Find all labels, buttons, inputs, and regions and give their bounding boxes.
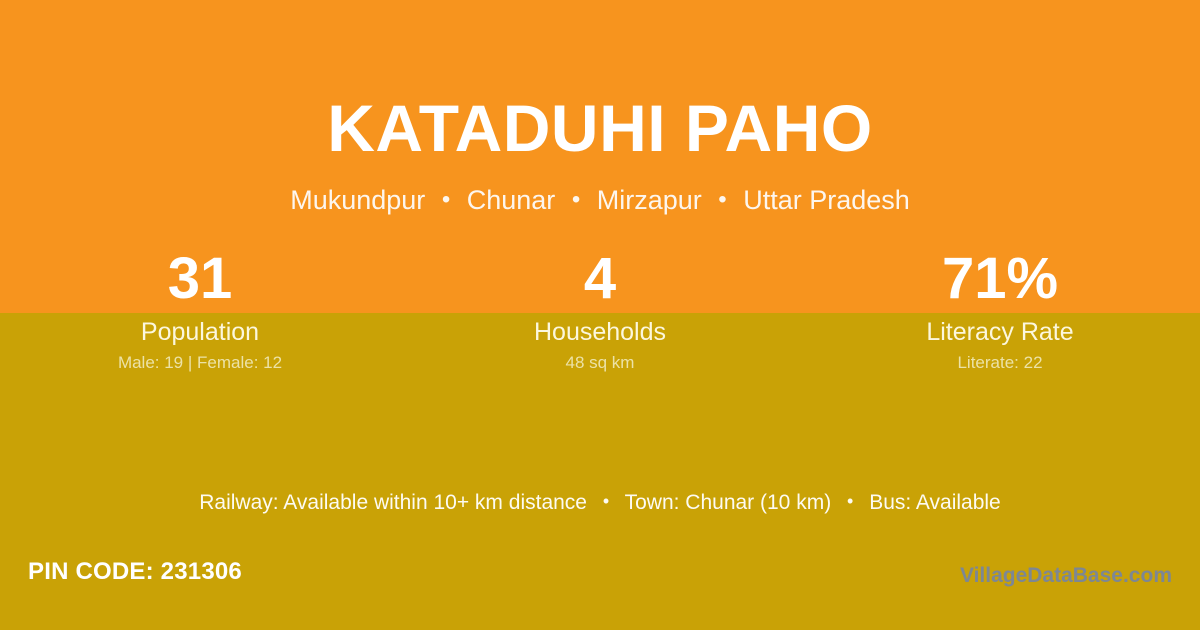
stat-label-literacy-rate: Literacy Rate — [800, 316, 1200, 348]
stat-card-households: 4 Households 48 sq km — [400, 240, 800, 390]
breadcrumb-item-district: Mirzapur — [597, 185, 702, 215]
breadcrumb: Mukundpur • Chunar • Mirzapur • Uttar Pr… — [0, 182, 1200, 218]
pin-code-label: PIN CODE: 231306 — [28, 556, 242, 588]
stat-sub-literacy-rate: Literate: 22 — [800, 352, 1200, 374]
bullet-separator-icon: • — [709, 182, 735, 218]
breadcrumb-item-state: Uttar Pradesh — [743, 185, 910, 215]
bullet-separator-icon: • — [593, 487, 619, 515]
stat-sub-population: Male: 19 | Female: 12 — [0, 352, 400, 374]
stat-sub-households: 48 sq km — [400, 352, 800, 374]
page-title: KATADUHI PAHO — [0, 84, 1200, 172]
stat-value-literacy-rate: 71% — [800, 246, 1200, 312]
stat-value-households: 4 — [400, 246, 800, 312]
site-watermark: VillageDataBase.com — [960, 562, 1172, 590]
breadcrumb-item-block: Mukundpur — [290, 185, 425, 215]
statistics-row: 31 Population Male: 19 | Female: 12 4 Ho… — [0, 240, 1200, 390]
stat-label-households: Households — [400, 316, 800, 348]
infra-bus: Bus: Available — [869, 491, 1001, 514]
infrastructure-summary: Railway: Available within 10+ km distanc… — [0, 487, 1200, 517]
infra-railway: Railway: Available within 10+ km distanc… — [199, 491, 587, 514]
stat-value-population: 31 — [0, 246, 400, 312]
bullet-separator-icon: • — [837, 487, 863, 515]
bullet-separator-icon: • — [563, 182, 589, 218]
card-header: KATADUHI PAHO Mukundpur • Chunar • Mirza… — [0, 0, 1200, 240]
breadcrumb-item-subdistrict: Chunar — [467, 185, 556, 215]
bullet-separator-icon: • — [433, 182, 459, 218]
infra-town: Town: Chunar (10 km) — [625, 491, 832, 514]
card-footer: PIN CODE: 231306 VillageDataBase.com — [0, 540, 1200, 630]
stat-label-population: Population — [0, 316, 400, 348]
stat-card-literacy-rate: 71% Literacy Rate Literate: 22 — [800, 240, 1200, 390]
village-info-card: KATADUHI PAHO Mukundpur • Chunar • Mirza… — [0, 0, 1200, 630]
stat-card-population: 31 Population Male: 19 | Female: 12 — [0, 240, 400, 390]
